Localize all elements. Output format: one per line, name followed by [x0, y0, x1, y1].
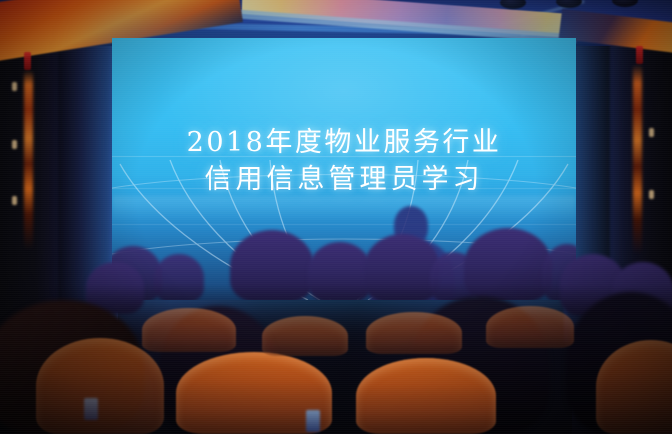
wall-red-marker-left [24, 52, 31, 70]
theater-seat [36, 338, 164, 434]
theater-seat [486, 306, 574, 348]
slide-title: 2018年度物业服务行业 信用信息管理员学习 [112, 124, 576, 198]
slide-title-line-2: 信用信息管理员学习 [112, 161, 576, 198]
phone-screen-glow [84, 398, 98, 420]
slide-title-line-1: 2018年度物业服务行业 [112, 124, 576, 161]
wall-light-dot [12, 140, 17, 149]
wall-light-dot [12, 82, 17, 91]
wall-light-dot [12, 196, 17, 205]
theater-seat [142, 308, 236, 352]
theater-seat [356, 358, 496, 434]
phone-screen-glow [306, 410, 320, 432]
wall-red-marker-right [636, 46, 643, 64]
wall-light-strip-left [24, 70, 33, 250]
auditorium-photo: 2018年度物业服务行业 信用信息管理员学习 [0, 0, 672, 434]
wall-light-dot [649, 128, 654, 137]
wall-light-strip-right [633, 64, 642, 254]
projection-screen: 2018年度物业服务行业 信用信息管理员学习 [112, 38, 576, 300]
theater-seat [366, 312, 462, 354]
wall-light-dot [649, 190, 654, 199]
theater-seat [262, 316, 348, 356]
